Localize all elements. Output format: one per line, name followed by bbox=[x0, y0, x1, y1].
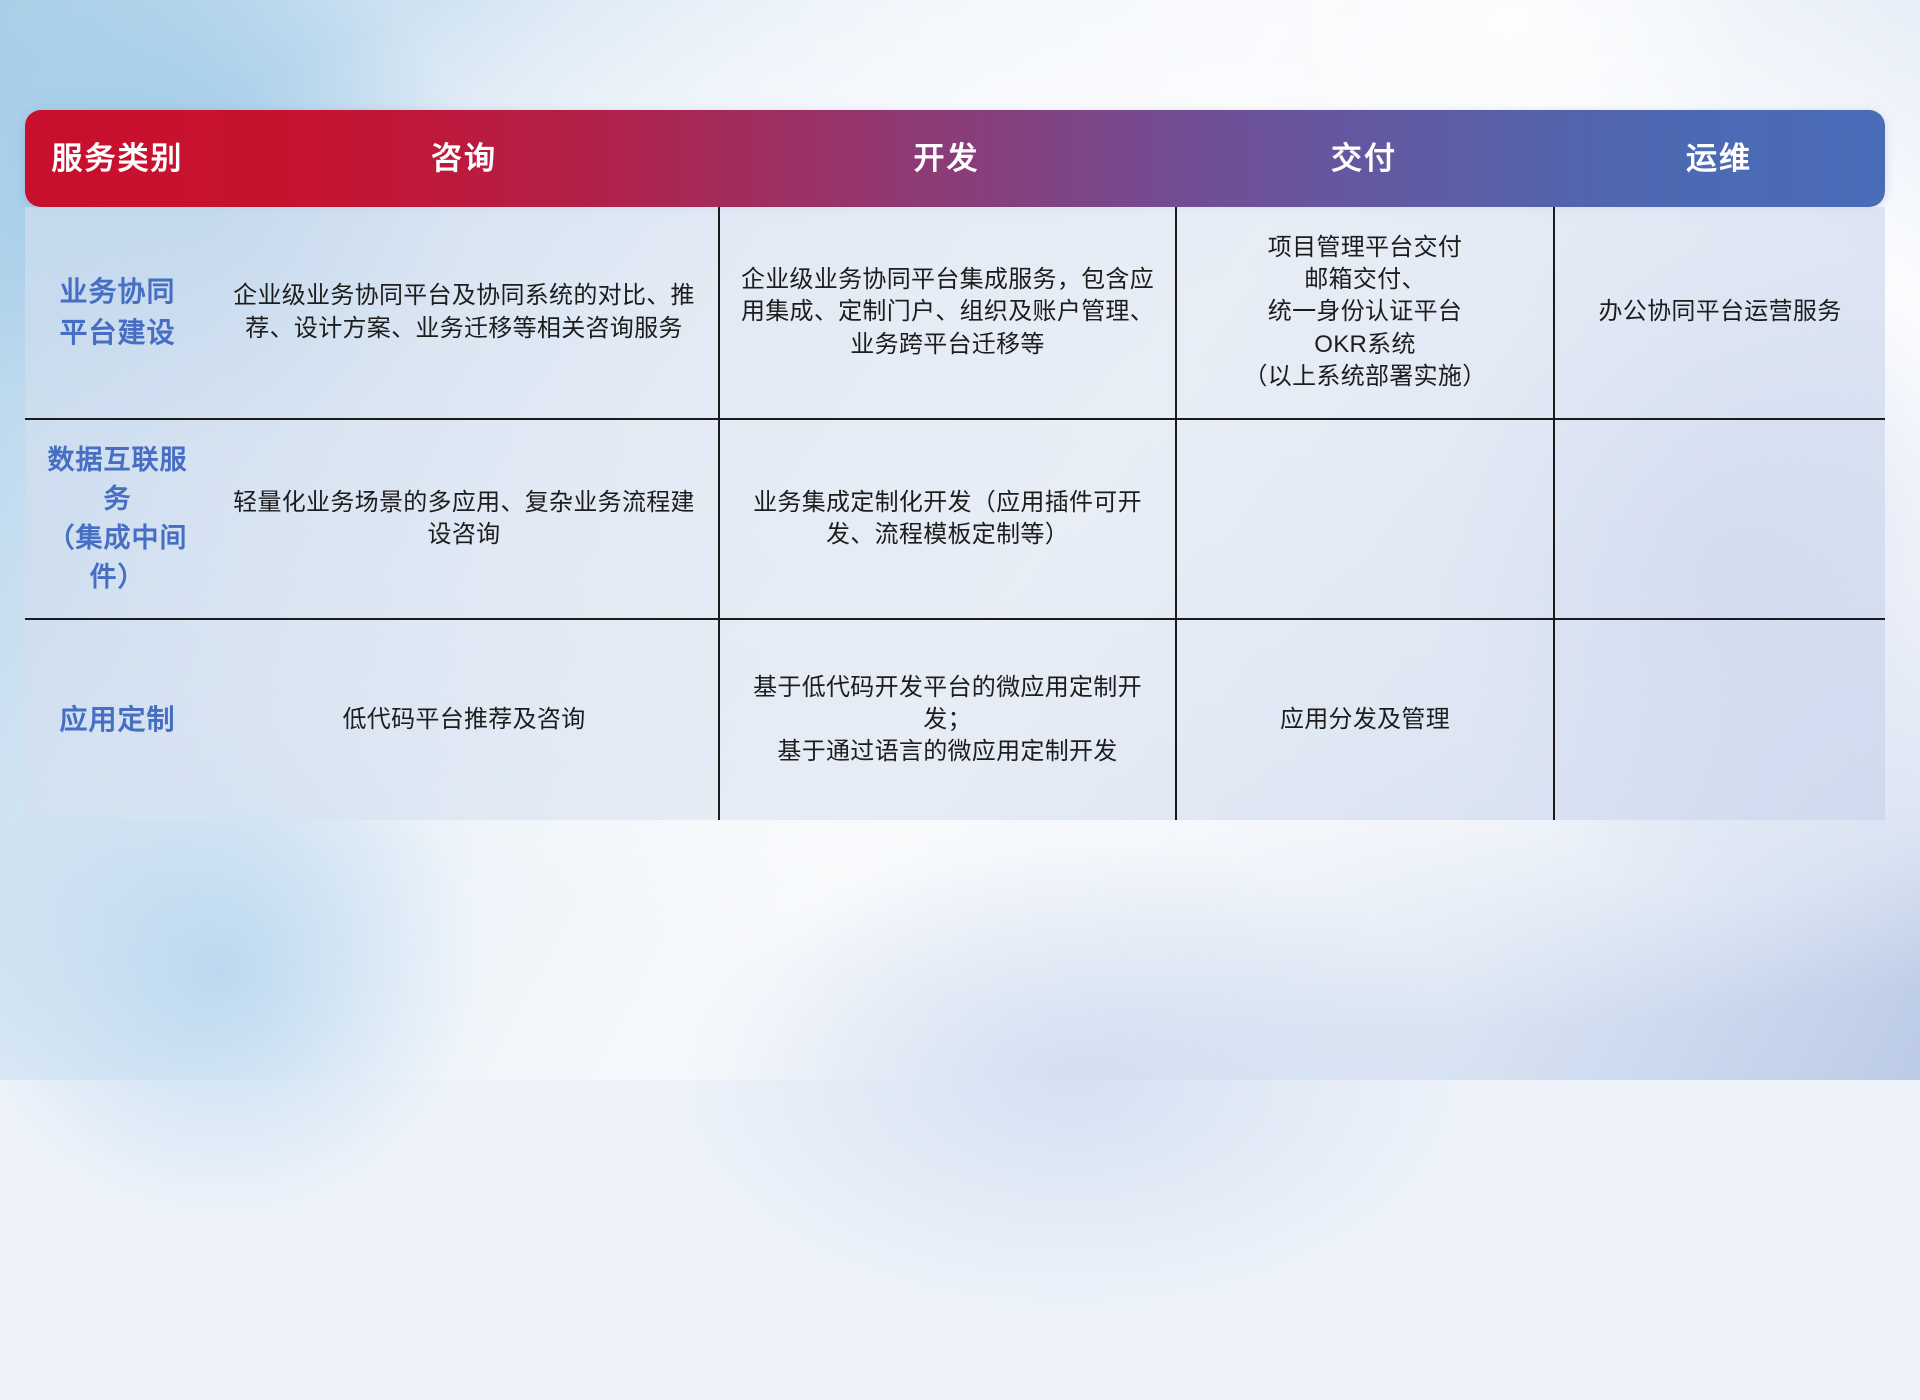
column-header-category: 服务类别 bbox=[25, 143, 210, 174]
cell-consulting: 轻量化业务场景的多应用、复杂业务流程建设咨询 bbox=[210, 420, 718, 618]
development-line: 基于通过语言的微应用定制开发 bbox=[734, 736, 1161, 768]
category-line: 应用定制 bbox=[59, 700, 175, 741]
cell-operations bbox=[1553, 420, 1885, 618]
category-line: 业务协同 bbox=[59, 272, 175, 313]
cell-delivery: 应用分发及管理 bbox=[1175, 620, 1553, 820]
category-line: （集成中间件） bbox=[39, 519, 196, 597]
column-header-development: 开发 bbox=[718, 143, 1175, 174]
cell-development: 业务集成定制化开发（应用插件可开发、流程模板定制等） bbox=[718, 420, 1175, 618]
cell-development: 基于低代码开发平台的微应用定制开发； 基于通过语言的微应用定制开发 bbox=[718, 620, 1175, 820]
delivery-line: 统一身份认证平台 bbox=[1244, 296, 1487, 328]
development-line: 基于低代码开发平台的微应用定制开发； bbox=[734, 672, 1161, 736]
delivery-line: OKR系统 bbox=[1244, 329, 1487, 361]
background-glow-bottom bbox=[520, 760, 1620, 1400]
column-header-delivery: 交付 bbox=[1175, 143, 1553, 174]
delivery-line: （以上系统部署实施） bbox=[1244, 361, 1487, 393]
category-line: 数据互联服务 bbox=[39, 441, 196, 519]
row-category-cell: 业务协同 平台建设 bbox=[25, 207, 210, 418]
category-line: 平台建设 bbox=[59, 313, 175, 354]
service-matrix-table: 服务类别 咨询 开发 交付 运维 业务协同 平台建设 企业级业务协同平台及协同系… bbox=[25, 110, 1885, 820]
cell-consulting: 低代码平台推荐及咨询 bbox=[210, 620, 718, 820]
table-row: 数据互联服务 （集成中间件） 轻量化业务场景的多应用、复杂业务流程建设咨询 业务… bbox=[25, 418, 1885, 618]
cell-delivery bbox=[1175, 420, 1553, 618]
table-row: 业务协同 平台建设 企业级业务协同平台及协同系统的对比、推荐、设计方案、业务迁移… bbox=[25, 207, 1885, 418]
cell-operations: 办公协同平台运营服务 bbox=[1553, 207, 1885, 418]
cell-operations bbox=[1553, 620, 1885, 820]
cell-consulting: 企业级业务协同平台及协同系统的对比、推荐、设计方案、业务迁移等相关咨询服务 bbox=[210, 207, 718, 418]
cell-delivery: 项目管理平台交付 邮箱交付、 统一身份认证平台 OKR系统 （以上系统部署实施） bbox=[1175, 207, 1553, 418]
column-header-consulting: 咨询 bbox=[210, 143, 718, 174]
cell-development: 企业级业务协同平台集成服务，包含应用集成、定制门户、组织及账户管理、业务跨平台迁… bbox=[718, 207, 1175, 418]
delivery-line: 项目管理平台交付 bbox=[1244, 232, 1487, 264]
row-category-cell: 数据互联服务 （集成中间件） bbox=[25, 420, 210, 618]
row-category-cell: 应用定制 bbox=[25, 620, 210, 820]
table-header-row: 服务类别 咨询 开发 交付 运维 bbox=[25, 110, 1885, 207]
column-header-operations: 运维 bbox=[1553, 143, 1885, 174]
table-row: 应用定制 低代码平台推荐及咨询 基于低代码开发平台的微应用定制开发； 基于通过语… bbox=[25, 618, 1885, 820]
table-body: 业务协同 平台建设 企业级业务协同平台及协同系统的对比、推荐、设计方案、业务迁移… bbox=[25, 207, 1885, 820]
delivery-line: 邮箱交付、 bbox=[1244, 264, 1487, 296]
